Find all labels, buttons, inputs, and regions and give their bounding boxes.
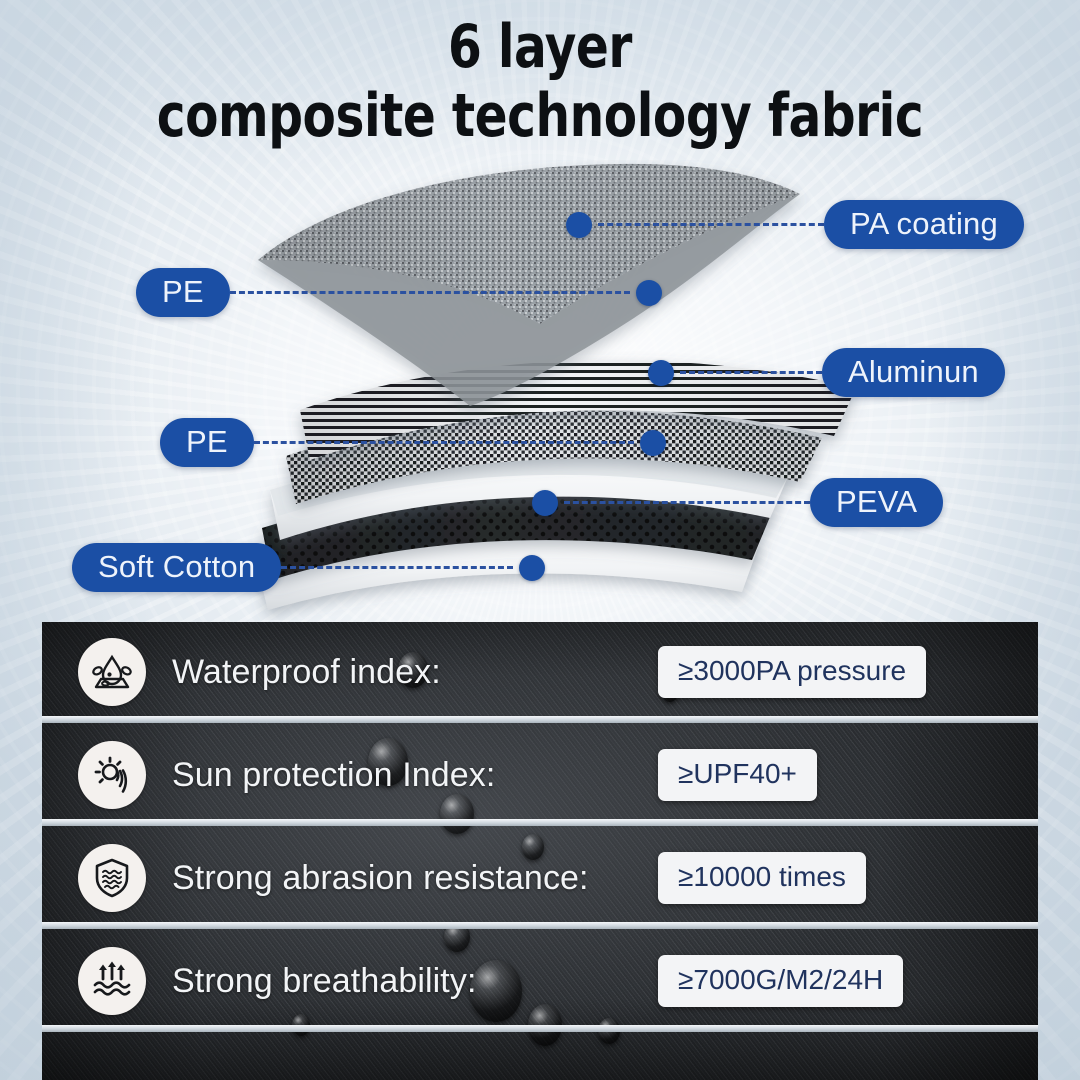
callout-dot-soft-cotton (519, 555, 545, 581)
callout-line-aluminum (680, 371, 822, 374)
spec-value-waterproof: ≥3000PA pressure (658, 646, 926, 698)
callout-line-soft-cotton (281, 566, 513, 569)
spec-row-waterproof: Waterproof index: ≥3000PA pressure (42, 622, 1038, 722)
callout-aluminum[interactable]: Aluminun (648, 348, 1005, 397)
callout-label-aluminum: Aluminun (822, 348, 1005, 397)
shield-waves-icon (78, 844, 146, 912)
callout-label-pe-upper: PE (136, 268, 230, 317)
spec-row-sun-protection: Sun protection Index: ≥UPF40+ (42, 725, 1038, 825)
callout-line-pe-lower (254, 441, 634, 444)
spec-panel: Waterproof index: ≥3000PA pressure (42, 622, 1038, 1080)
callout-label-peva: PEVA (810, 478, 943, 527)
breathability-icon (78, 947, 146, 1015)
spec-label-breathability: Strong breathability: (172, 962, 477, 1001)
callout-peva[interactable]: PEVA (532, 478, 943, 527)
callout-dot-pe-lower (640, 430, 666, 456)
spec-value-breathability: ≥7000G/M2/24H (658, 955, 903, 1007)
spec-row-breathability: Strong breathability: ≥7000G/M2/24H (42, 931, 1038, 1031)
page-title: 6 layer composite technology fabric (0, 18, 1080, 146)
callout-label-pa-coating: PA coating (824, 200, 1024, 249)
title-line-2: composite technology fabric (54, 87, 1026, 146)
spec-label-waterproof: Waterproof index: (172, 653, 441, 692)
callout-pe-lower[interactable]: PE (160, 418, 666, 467)
callout-pe-upper[interactable]: PE (136, 268, 662, 317)
spec-label-abrasion: Strong abrasion resistance: (172, 859, 589, 898)
spec-value-sun-protection: ≥UPF40+ (658, 749, 817, 801)
callout-dot-peva (532, 490, 558, 516)
callout-dot-pa-coating (566, 212, 592, 238)
spec-row-abrasion: Strong abrasion resistance: ≥10000 times (42, 828, 1038, 928)
callout-soft-cotton[interactable]: Soft Cotton (72, 543, 545, 592)
callout-label-pe-lower: PE (160, 418, 254, 467)
callout-dot-aluminum (648, 360, 674, 386)
callout-line-pa-coating (598, 223, 824, 226)
callout-label-soft-cotton: Soft Cotton (72, 543, 281, 592)
sun-rays-icon (78, 741, 146, 809)
callout-line-pe-upper (230, 291, 630, 294)
spec-value-abrasion: ≥10000 times (658, 852, 866, 904)
water-drop-icon (78, 638, 146, 706)
spec-label-sun-protection: Sun protection Index: (172, 756, 495, 795)
title-line-1: 6 layer (54, 18, 1026, 77)
callout-dot-pe-upper (636, 280, 662, 306)
infographic-canvas: 6 layer composite technology fabric (0, 0, 1080, 1080)
callout-pa-coating[interactable]: PA coating (566, 200, 1024, 249)
callout-line-peva (564, 501, 810, 504)
